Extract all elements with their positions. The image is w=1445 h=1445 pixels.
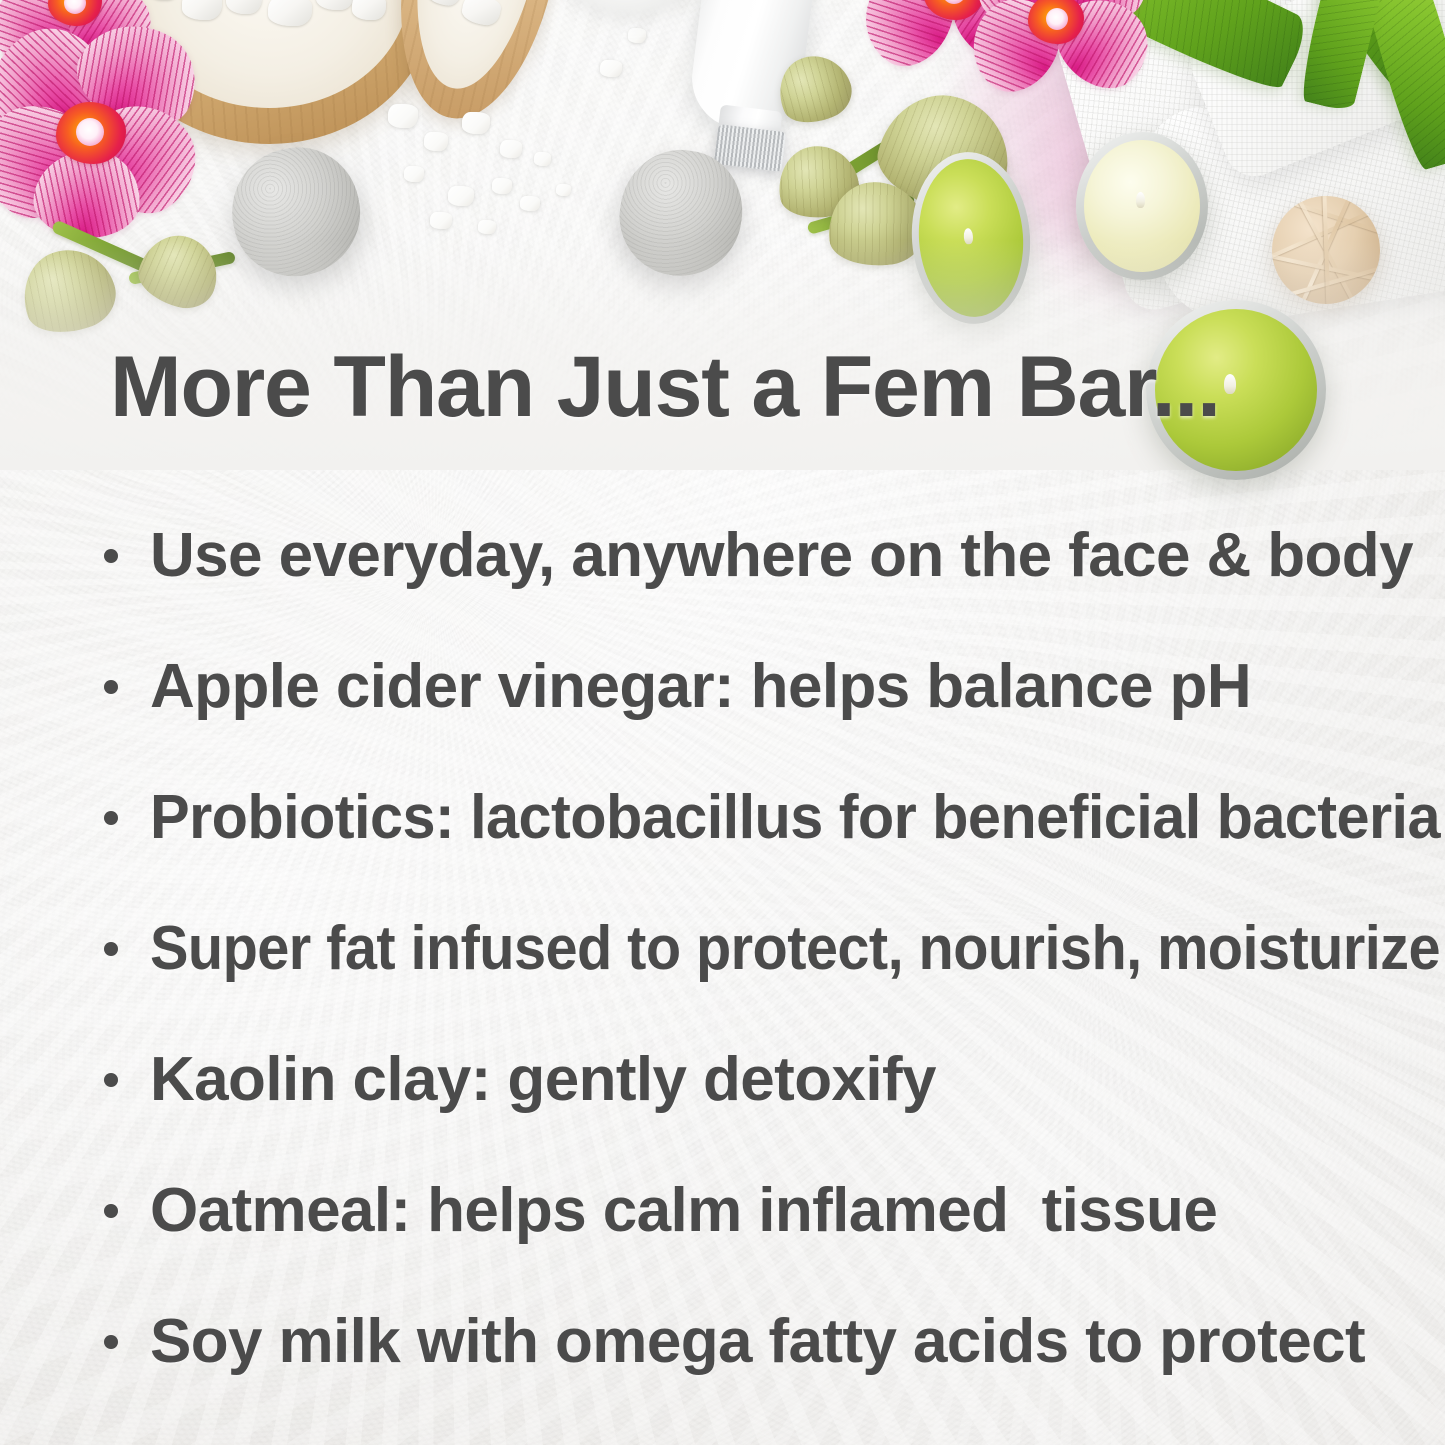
salt-flake <box>534 152 551 166</box>
list-item-label: Use everyday, anywhere on the face & bod… <box>150 525 1413 587</box>
page-title: More Than Just a Fem Bar... <box>110 338 1220 437</box>
bullet-point-icon <box>104 811 118 825</box>
salt-flake <box>628 28 646 43</box>
bullet-point-icon <box>104 942 118 956</box>
list-item-label: Kaolin clay: gently detoxify <box>150 1049 936 1111</box>
blurred-white-jar <box>560 0 700 14</box>
orchid-flower <box>968 0 1168 124</box>
bullet-point-icon <box>104 680 118 694</box>
salt-flake <box>448 186 474 206</box>
spa-stone <box>220 136 372 288</box>
salt-flake <box>492 178 512 194</box>
list-item-label: Probiotics: lactobacillus for beneficial… <box>150 787 1440 849</box>
rattan-ball <box>1272 196 1380 304</box>
list-item: Probiotics: lactobacillus for beneficial… <box>0 752 1445 883</box>
bullet-point-icon <box>104 549 118 563</box>
salt-flake <box>478 220 496 234</box>
list-item: Kaolin clay: gently detoxify <box>0 1014 1445 1145</box>
salt-flake <box>520 196 540 211</box>
salt-flake <box>424 132 448 151</box>
salt-flake <box>600 60 622 77</box>
list-item-label: Apple cider vinegar: helps balance pH <box>150 656 1251 718</box>
cosmetic-bottle-cap <box>714 124 786 172</box>
list-item: Use everyday, anywhere on the face & bod… <box>0 490 1445 621</box>
salt-flake <box>462 112 490 134</box>
list-item: Super fat infused to protect, nourish, m… <box>0 883 1445 1014</box>
salt-flake <box>404 166 424 182</box>
infographic-canvas: More Than Just a Fem Bar... Use everyday… <box>0 0 1445 1445</box>
bullet-point-icon <box>104 1204 118 1218</box>
salt-flake <box>430 212 452 229</box>
list-item-label: Soy milk with omega fatty acids to prote… <box>150 1311 1365 1373</box>
cream-tealight-candle <box>1076 132 1208 280</box>
salt-flake <box>500 140 522 158</box>
salt-flake <box>388 104 418 128</box>
list-item: Soy milk with omega fatty acids to prote… <box>0 1276 1445 1407</box>
list-item: Apple cider vinegar: helps balance pH <box>0 621 1445 752</box>
list-item-label: Super fat infused to protect, nourish, m… <box>150 918 1440 980</box>
list-item: Oatmeal: helps calm inflamed tissue <box>0 1145 1445 1276</box>
list-item-label: Oatmeal: helps calm inflamed tissue <box>150 1180 1217 1242</box>
bullet-point-icon <box>104 1335 118 1349</box>
bullet-point-icon <box>104 1073 118 1087</box>
benefits-list: Use everyday, anywhere on the face & bod… <box>0 490 1445 1407</box>
orchid-flower <box>0 24 226 254</box>
salt-flake <box>556 184 571 196</box>
